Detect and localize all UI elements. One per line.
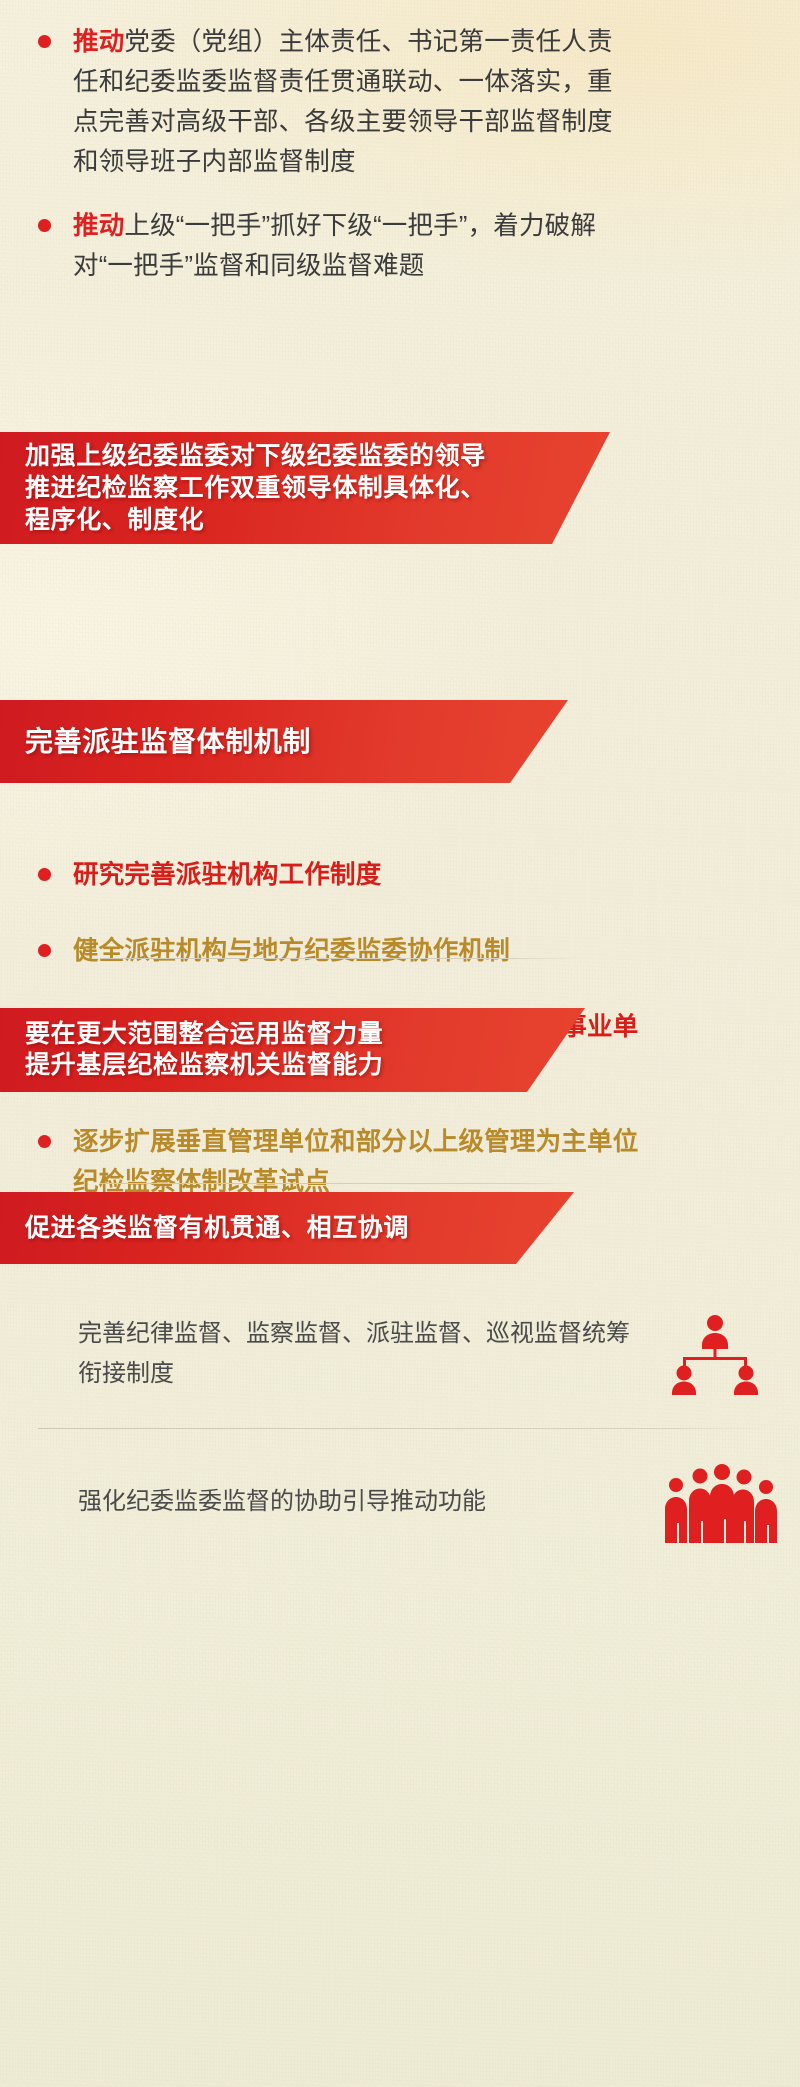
bullet-text: 逐步扩展垂直管理单位和部分以上级管理为主单位纪检监察体制改革试点 [73, 1122, 640, 1202]
list-item: 健全派驻机构与地方纪委监委协作机制 [38, 931, 640, 971]
bullet-text: 推动党委（党组）主体责任、书记第一责任人责任和纪委监委监督责任贯通联动、一体落实… [73, 22, 620, 182]
bullet-dot-icon [38, 868, 51, 881]
banner-promote-coordination: 促进各类监督有机贯通、相互协调 [0, 1192, 574, 1264]
bullet-dot-icon [38, 1135, 51, 1148]
top-bullet-list: 推动党委（党组）主体责任、书记第一责任人责任和纪委监委监督责任贯通联动、一体落实… [0, 22, 800, 286]
row-text: 强化纪委监委监督的协助引导推动功能 [0, 1482, 660, 1522]
list-item: 推动上级“一把手”抓好下级“一把手”，着力破解对“一把手”监督和同级监督难题 [38, 206, 620, 286]
bottom-row-discipline-supervision: 完善纪律监督、监察监督、派驻监督、巡视监督统筹衔接制度 [0, 1308, 800, 1400]
banner-title-block: 要在更大范围整合运用监督力量 提升基层纪检监察机关监督能力 [0, 1019, 383, 1081]
banner-title-block: 加强上级纪委监委对下级纪委监委的领导 推进纪检监察工作双重领导体制具体化、 程序… [0, 440, 486, 536]
banner-improve-stationed-supervision: 完善派驻监督体制机制 [0, 700, 568, 783]
bullet-text: 健全派驻机构与地方纪委监委协作机制 [73, 931, 640, 971]
banner-title: 完善派驻监督体制机制 [0, 725, 311, 759]
banner-upper-level-leadership: 加强上级纪委监委对下级纪委监委的领导 推进纪检监察工作双重领导体制具体化、 程序… [0, 432, 610, 544]
bullet-body-text: 党委（党组）主体责任、书记第一责任人责任和纪委监委监督责任贯通联动、一体落实，重… [73, 28, 613, 176]
group-of-people-icon [660, 1461, 770, 1543]
bullet-body-text: 上级“一把手”抓好下级“一把手”，着力破解对“一把手”监督和同级监督难题 [73, 212, 596, 280]
bullet-dot-icon [38, 35, 51, 48]
banner-integrate-supervision-forces: 要在更大范围整合运用监督力量 提升基层纪检监察机关监督能力 [0, 1008, 585, 1092]
banner-title: 促进各类监督有机贯通、相互协调 [0, 1212, 409, 1244]
divider [100, 1183, 580, 1184]
banner-line-1: 加强上级纪委监委对下级纪委监委的领导 [0, 440, 486, 472]
org-chart-people-icon [660, 1313, 770, 1395]
bullet-text: 推动上级“一把手”抓好下级“一把手”，着力破解对“一把手”监督和同级监督难题 [73, 206, 620, 286]
divider [100, 958, 580, 959]
infographic-page: 推动党委（党组）主体责任、书记第一责任人责任和纪委监委监督责任贯通联动、一体落实… [0, 0, 800, 2087]
list-item: 推动党委（党组）主体责任、书记第一责任人责任和纪委监委监督责任贯通联动、一体落实… [38, 22, 620, 182]
list-item: 研究完善派驻机构工作制度 [38, 855, 640, 895]
banner-line-2: 提升基层纪检监察机关监督能力 [0, 1050, 383, 1081]
banner-line-3: 程序化、制度化 [0, 504, 486, 536]
bullet-dot-icon [38, 219, 51, 232]
bottom-row-assist-guide-function: 强化纪委监委监督的协助引导推动功能 [0, 1452, 800, 1552]
banner-line-1: 要在更大范围整合运用监督力量 [0, 1019, 383, 1050]
bullet-dot-icon [38, 944, 51, 957]
bullet-lead-keyword: 推动 [73, 212, 124, 240]
bullet-lead-keyword: 推动 [73, 28, 124, 56]
row-text: 完善纪律监督、监察监督、派驻监督、巡视监督统筹衔接制度 [0, 1314, 660, 1394]
divider [38, 1428, 763, 1429]
bullet-text: 研究完善派驻机构工作制度 [73, 855, 640, 895]
banner-line-2: 推进纪检监察工作双重领导体制具体化、 [0, 472, 486, 504]
list-item: 逐步扩展垂直管理单位和部分以上级管理为主单位纪检监察体制改革试点 [38, 1122, 640, 1202]
